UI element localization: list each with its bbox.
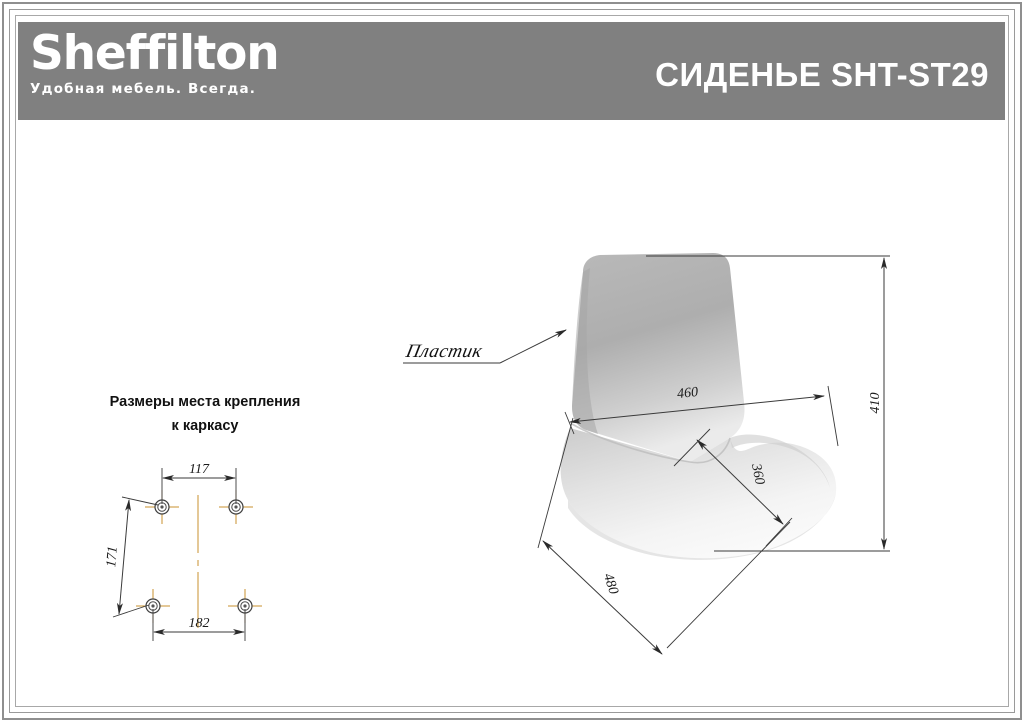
- dim-label-182: 182: [189, 616, 210, 631]
- dim-line-front-480: [543, 541, 662, 654]
- plastic-leader-arrow: [500, 330, 566, 363]
- material-label-plastic: Пластик: [403, 341, 485, 362]
- seat-backrest: [572, 253, 744, 462]
- dim-label-117: 117: [189, 462, 210, 477]
- ext-171-lower: [113, 605, 149, 617]
- ext-460-right: [828, 386, 838, 446]
- dim-label-width-460: 460: [676, 385, 698, 402]
- technical-drawing: 410 460 360 480 Пластик: [0, 0, 1024, 722]
- dim-line-171: [119, 500, 129, 614]
- dim-label-171: 171: [104, 546, 121, 568]
- seat-shell-render: [561, 253, 837, 560]
- ext-171-upper: [122, 497, 158, 505]
- dim-label-front-480: 480: [600, 572, 621, 597]
- dim-label-height-410: 410: [868, 393, 883, 414]
- drawing-page: Sheffilton Удобная мебель. Всегда. СИДЕН…: [0, 0, 1024, 722]
- mounting-pattern-drawing: 117 182 171: [104, 462, 262, 641]
